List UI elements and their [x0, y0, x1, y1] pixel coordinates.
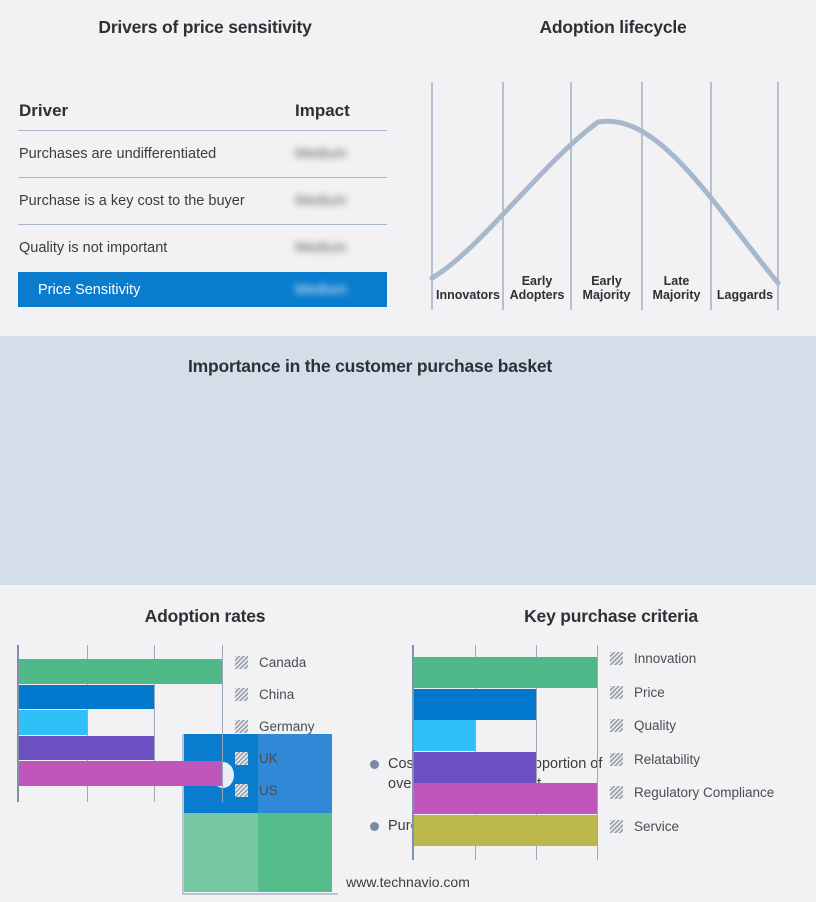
hatched-swatch-icon	[610, 820, 623, 833]
bar-price	[414, 689, 536, 720]
legend-item-label: UK	[259, 751, 278, 766]
stage-label-early-adopters: Early Adopters	[504, 274, 570, 302]
legend-item-label: Quality	[634, 718, 676, 733]
stage-label-laggards: Laggards	[712, 288, 778, 302]
adoption-plot-area	[17, 645, 222, 802]
drivers-table: Driver Impact Purchases are undifferenti…	[18, 92, 387, 271]
adoption-rates-panel: CanadaChinaGermanyUKUS	[0, 585, 410, 902]
chart-gridline	[597, 645, 598, 860]
legend-item-label: China	[259, 687, 294, 702]
impact-value-obscured: Medium	[295, 282, 347, 298]
adoption-bell-curve	[432, 121, 778, 283]
legend-item: US	[235, 783, 278, 798]
impact-value-obscured: Medium	[295, 193, 347, 209]
bar-canada	[19, 659, 222, 684]
hatched-swatch-icon	[235, 688, 248, 701]
legend-item: Relatability	[610, 752, 700, 767]
table-header-row: Driver Impact	[18, 92, 387, 131]
chart-gridline	[222, 645, 223, 802]
bar-innovation	[414, 657, 597, 688]
hatched-swatch-icon	[235, 656, 248, 669]
price-sensitivity-label: Price Sensitivity	[18, 282, 295, 298]
legend-item-label: Innovation	[634, 651, 696, 666]
bar-service	[414, 815, 597, 846]
legend-item: Quality	[610, 718, 676, 733]
legend-item: Germany	[235, 719, 315, 734]
column-header-driver: Driver	[18, 101, 295, 121]
stage-label-late-majority: Late Majority	[643, 274, 710, 302]
price-sensitivity-highlight-row: Price Sensitivity Medium	[18, 272, 387, 307]
stage-label-innovators: Innovators	[434, 288, 502, 302]
legend-item-label: Germany	[259, 719, 315, 734]
hatched-swatch-icon	[610, 652, 623, 665]
infographic-page: Drivers of price sensitivity Driver Impa…	[0, 0, 816, 902]
bar-china	[19, 685, 154, 710]
legend-item-label: Regulatory Compliance	[634, 785, 774, 800]
legend-item: UK	[235, 751, 278, 766]
impact-value: Medium	[295, 240, 387, 256]
hatched-swatch-icon	[235, 784, 248, 797]
hatched-swatch-icon	[610, 786, 623, 799]
driver-label: Purchase is a key cost to the buyer	[18, 193, 295, 209]
price-sensitivity-impact: Medium	[295, 282, 387, 298]
table-row: Quality is not important Medium	[18, 225, 387, 271]
hatched-swatch-icon	[610, 753, 623, 766]
table-row: Purchases are undifferentiated Medium	[18, 131, 387, 178]
stage-label-early-majority: Early Majority	[572, 274, 641, 302]
legend-item-label: Service	[634, 819, 679, 834]
bar-regulatory-compliance	[414, 783, 597, 814]
legend-item: Canada	[235, 655, 306, 670]
impact-value-obscured: Medium	[295, 146, 347, 162]
bar-relatability	[414, 752, 536, 783]
purchase-basket-panel: Cost of purchase as proportion of overal…	[0, 336, 816, 585]
criteria-plot-area	[412, 645, 597, 860]
legend-item-label: US	[259, 783, 278, 798]
hatched-swatch-icon	[610, 686, 623, 699]
impact-value: Medium	[295, 193, 387, 209]
adoption-lifecycle-panel: Innovators Early Adopters Early Majority…	[410, 0, 816, 336]
bar-us	[19, 761, 222, 786]
legend-item-label: Relatability	[634, 752, 700, 767]
impact-value-obscured: Medium	[295, 240, 347, 256]
legend-item: China	[235, 687, 294, 702]
key-purchase-criteria-panel: InnovationPriceQualityRelatabilityRegula…	[406, 585, 816, 902]
legend-item: Regulatory Compliance	[610, 785, 774, 800]
footer-url: www.technavio.com	[0, 874, 816, 890]
legend-item: Service	[610, 819, 679, 834]
hatched-swatch-icon	[235, 752, 248, 765]
column-header-impact: Impact	[295, 101, 387, 121]
driver-label: Quality is not important	[18, 240, 295, 256]
legend-item-label: Price	[634, 685, 665, 700]
driver-label: Purchases are undifferentiated	[18, 146, 295, 162]
bar-quality	[414, 720, 475, 751]
legend-item: Price	[610, 685, 665, 700]
legend-item: Innovation	[610, 651, 696, 666]
legend-item-label: Canada	[259, 655, 306, 670]
hatched-swatch-icon	[610, 719, 623, 732]
bar-germany	[19, 710, 87, 735]
bar-uk	[19, 736, 154, 761]
drivers-panel: Driver Impact Purchases are undifferenti…	[0, 0, 410, 336]
hatched-swatch-icon	[235, 720, 248, 733]
impact-value: Medium	[295, 146, 387, 162]
table-row: Purchase is a key cost to the buyer Medi…	[18, 178, 387, 225]
